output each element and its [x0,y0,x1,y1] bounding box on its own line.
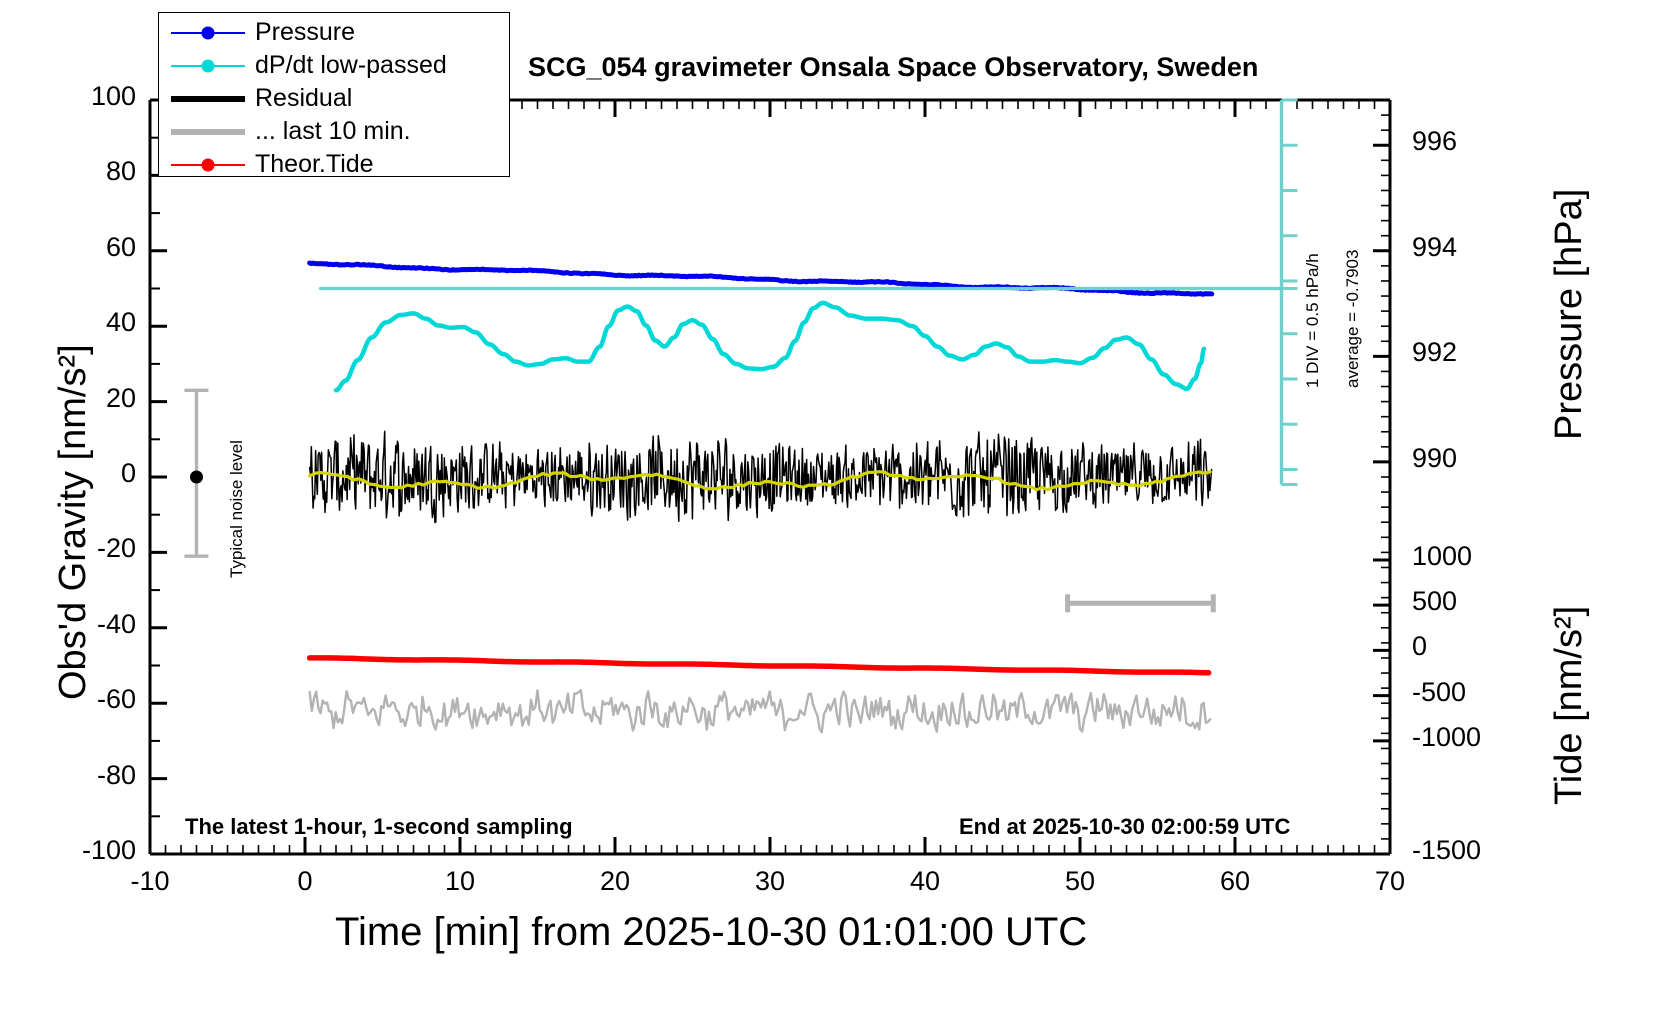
legend-marker-icon [202,59,215,72]
tick-label: 100 [0,81,136,112]
legend-swatch-2 [165,82,251,115]
legend-swatch-0 [165,16,251,49]
legend-item-label: dP/dt low-passed [251,51,447,80]
tick-label: 40 [0,307,136,338]
tick-label: 0 [0,458,136,489]
tick-label: 0 [260,866,350,897]
tick-label: 60 [0,232,136,263]
tick-label: -1000 [1412,722,1481,753]
legend-line-icon [171,129,245,135]
series-residual [310,431,1212,522]
tick-label: 80 [0,156,136,187]
tick-label: -100 [0,835,136,866]
legend-item[interactable]: Pressure [165,16,509,49]
tick-label: -500 [1412,677,1466,708]
legend-item[interactable]: Theor.Tide [165,148,509,181]
tick-label: 0 [1412,631,1427,662]
tick-label: 996 [1412,126,1457,157]
tick-label: 40 [880,866,970,897]
tick-label: 990 [1412,443,1457,474]
sampling-note: The latest 1-hour, 1-second sampling [185,814,573,840]
left-axis-ticks [150,100,167,854]
tick-label: -60 [0,684,136,715]
series-dpdt-lowpassed [336,303,1204,390]
tick-label: 30 [725,866,815,897]
series-last-10-min [310,690,1211,732]
tick-label: -10 [105,866,195,897]
x-axis-label: Time [min] from 2025-10-30 01:01:00 UTC [335,910,1087,955]
legend-item[interactable]: ... last 10 min. [165,115,509,148]
tick-label: 50 [1035,866,1125,897]
y-axis-label-tide: Tide [nm/s²] [1548,606,1591,805]
legend-item-label: Residual [251,84,352,113]
tick-label: 500 [1412,586,1457,617]
legend-item[interactable]: Residual [165,82,509,115]
data-series-layer [310,263,1282,732]
average-label: average = -0.7903 [1343,250,1363,388]
tick-label: 992 [1412,337,1457,368]
series-theor-tide [310,658,1209,673]
div-scale-label: 1 DIV = 0.5 hPa/h [1303,253,1323,388]
y-axis-label-pressure: Pressure [hPa] [1548,189,1591,440]
legend-swatch-1 [165,49,251,82]
legend-swatch-3 [165,115,251,148]
tick-label: 70 [1345,866,1435,897]
tick-label: 20 [0,383,136,414]
legend-marker-icon [202,26,215,39]
legend-item-label: Pressure [251,18,355,47]
chart-page: SCG_054 gravimeter Onsala Space Observat… [0,0,1660,1020]
tick-label: 1000 [1412,541,1472,572]
dpdt-scale-bar [1282,100,1298,485]
tick-label: -80 [0,760,136,791]
tick-label: 20 [570,866,660,897]
noise-level-label: Typical noise level [227,440,247,578]
legend-marker-icon [202,158,215,171]
legend-line-icon [171,96,245,102]
tick-label: -1500 [1412,835,1481,866]
tick-label: 60 [1190,866,1280,897]
noise-level-bar [185,390,209,556]
legend-item-label: ... last 10 min. [251,117,411,146]
legend-item[interactable]: dP/dt low-passed [165,49,509,82]
tick-label: -40 [0,609,136,640]
legend-item-label: Theor.Tide [251,150,374,179]
right-axis-ticks [1373,100,1390,854]
tick-label: 10 [415,866,505,897]
tick-label: 994 [1412,232,1457,263]
legend-swatch-4 [165,148,251,181]
end-time-note: End at 2025-10-30 02:00:59 UTC [959,814,1290,840]
last-10-min-marker [1068,594,1214,612]
chart-title: SCG_054 gravimeter Onsala Space Observat… [528,52,1258,83]
legend: PressuredP/dt low-passedResidual... last… [158,12,510,177]
tick-label: -20 [0,533,136,564]
